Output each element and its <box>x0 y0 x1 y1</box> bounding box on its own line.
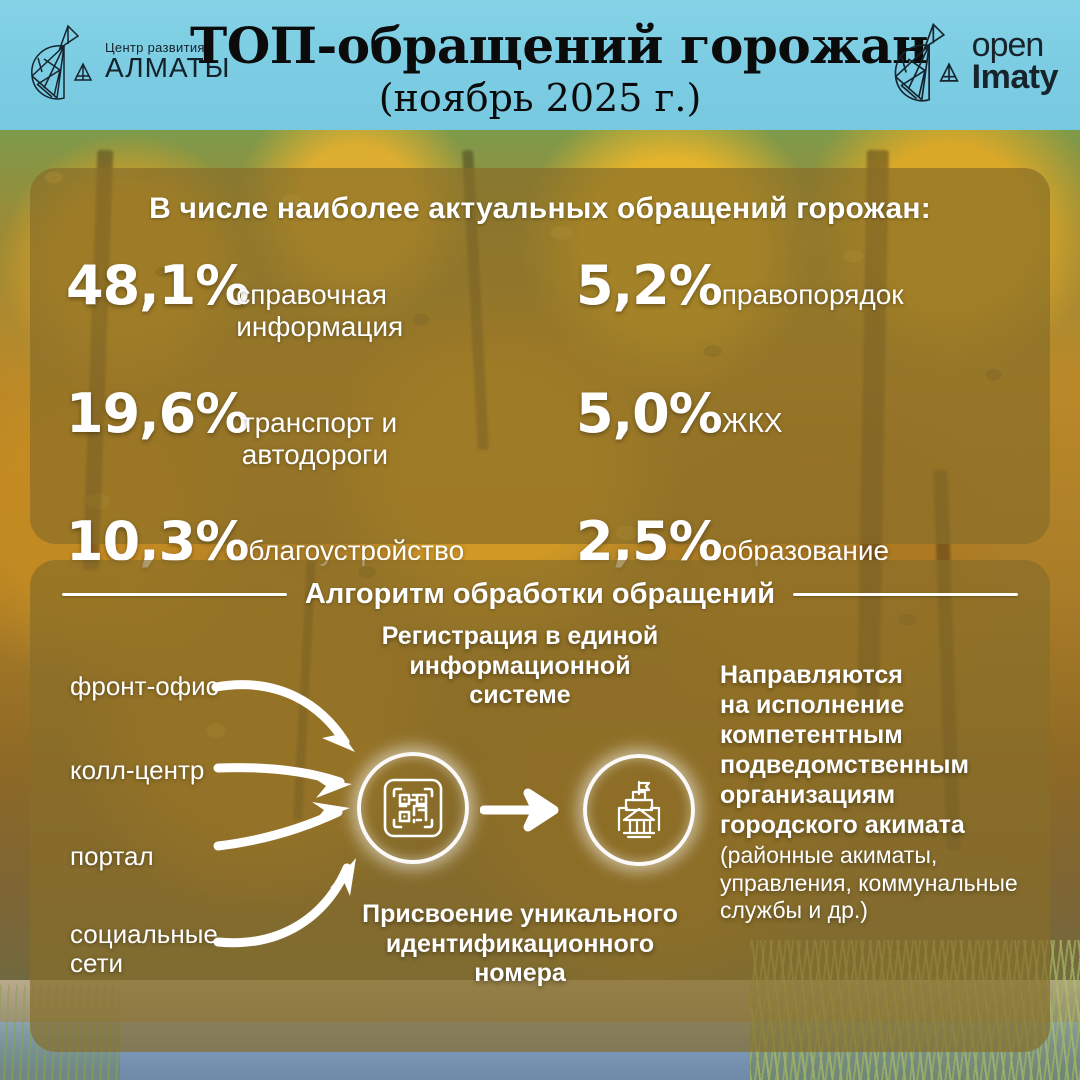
stat-label: транспорт и автодороги <box>242 407 540 471</box>
channel-front-office: фронт-офис <box>70 672 219 701</box>
stat-label: ЖКХ <box>722 407 783 439</box>
stat-item: 5,0% ЖКХ <box>540 382 1050 480</box>
infographic-canvas: Центр развития АЛМАТЫ ТОП-обращений горо… <box>0 0 1080 1080</box>
right-text-block: Направляются на исполнение компетентным … <box>720 660 1040 925</box>
title-block: ТОП-обращений горожан (ноябрь 2025 г.) <box>190 20 890 120</box>
government-building-icon <box>606 778 672 842</box>
stat-percent: 5,2% <box>576 254 722 317</box>
page-subtitle: (ноябрь 2025 г.) <box>190 77 890 121</box>
stat-label: правопорядок <box>722 279 904 311</box>
logo-open-almaty: open Imaty <box>887 16 1058 106</box>
statistics-panel: В числе наиболее актуальных обращений го… <box>30 168 1050 544</box>
channel-call-center: колл-центр <box>70 756 204 785</box>
algorithm-heading-row: Алгоритм обработки обращений <box>30 578 1050 611</box>
stat-percent: 19,6% <box>66 382 242 445</box>
rule-left <box>62 593 287 596</box>
right-bold-text: Направляются на исполнение компетентным … <box>720 660 1040 840</box>
almaty-apple-diamond-logo-icon <box>24 18 98 104</box>
arrow-right-icon <box>480 788 566 832</box>
header: Центр развития АЛМАТЫ ТОП-обращений горо… <box>0 0 1080 148</box>
caption-unique-id: Присвоение уникального идентификационног… <box>330 900 710 989</box>
logo-right-line2: Imaty <box>972 61 1058 93</box>
stat-percent: 5,0% <box>576 382 722 445</box>
statistics-grid: 48,1% справочная информация 5,2% правопо… <box>30 254 1050 608</box>
stat-label: справочная информация <box>236 279 540 343</box>
right-note-text: (районные акиматы, управления, коммуналь… <box>720 842 1040 925</box>
algorithm-heading: Алгоритм обработки обращений <box>305 578 775 611</box>
logo-right-line1: open <box>972 29 1058 61</box>
statistics-heading: В числе наиболее актуальных обращений го… <box>30 192 1050 226</box>
government-building-icon-badge <box>583 754 695 866</box>
channel-social-networks: социальные сети <box>70 920 218 978</box>
rule-right <box>793 593 1018 596</box>
stat-percent: 48,1% <box>66 254 236 317</box>
qr-code-icon-badge <box>357 752 469 864</box>
caption-registration: Регистрация в единой информационной сист… <box>330 622 710 711</box>
stat-item: 5,2% правопорядок <box>540 254 1050 352</box>
stat-item: 48,1% справочная информация <box>30 254 540 352</box>
stat-item: 19,6% транспорт и автодороги <box>30 382 540 480</box>
qr-code-icon <box>381 776 445 840</box>
channel-portal: портал <box>70 842 154 871</box>
page-title: ТОП-обращений горожан <box>190 20 890 73</box>
open-almaty-diamond-logo-icon <box>887 16 965 106</box>
